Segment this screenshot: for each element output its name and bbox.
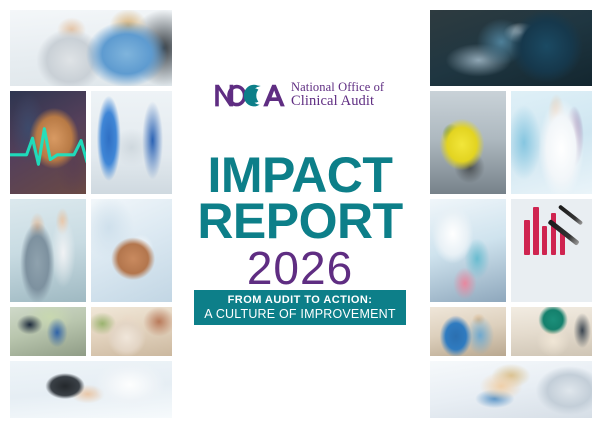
photo-child-in-hospital-bed xyxy=(430,361,592,418)
photo-bandaged-arm xyxy=(91,199,172,302)
cover-center-panel: National Office of Clinical Audit IMPACT… xyxy=(178,0,422,424)
photo-operating-theatre xyxy=(430,10,592,86)
photo-doctor-with-tablet xyxy=(10,361,172,418)
headline-year: 2026 xyxy=(189,245,411,292)
photo-ambulance xyxy=(430,91,506,194)
photo-elderly-woman-walking-stick xyxy=(91,307,172,356)
photo-imaging-equipment xyxy=(10,307,86,356)
photo-doctor-arms-folded xyxy=(511,91,592,194)
logo-text-line2: Clinical Audit xyxy=(291,94,384,109)
noca-logo: National Office of Clinical Audit xyxy=(214,80,384,110)
chart-bar xyxy=(533,207,539,254)
photo-physiotherapy-session xyxy=(10,199,86,302)
tagline-banner: FROM AUDIT TO ACTION: A CULTURE OF IMPRO… xyxy=(194,290,406,325)
photo-nurse-with-elderly-man xyxy=(10,10,172,86)
ecg-trace-icon xyxy=(10,124,86,171)
tagline-line2: A CULTURE OF IMPROVEMENT xyxy=(204,307,395,321)
tagline-line1: FROM AUDIT TO ACTION: xyxy=(228,294,373,306)
headline-word-report: REPORT xyxy=(189,198,411,244)
photo-nurse-walking-with-patient xyxy=(430,307,506,356)
chart-bar xyxy=(524,220,530,255)
collage-row xyxy=(10,307,172,418)
collage-row xyxy=(430,199,592,302)
collage-row xyxy=(430,91,592,194)
pie-chart-shape xyxy=(519,253,551,292)
headline-word-impact: IMPACT xyxy=(189,152,411,198)
collage-row xyxy=(10,10,172,86)
cover-headline: IMPACT REPORT 2026 xyxy=(189,152,411,292)
report-cover: National Office of Clinical Audit IMPACT… xyxy=(0,0,600,424)
collage-row xyxy=(430,10,592,86)
collage-row xyxy=(430,307,592,418)
left-photo-collage xyxy=(10,10,172,413)
collage-row xyxy=(10,91,172,194)
photo-charts-and-pen xyxy=(511,199,592,302)
chart-bar xyxy=(542,226,548,255)
photo-ecg-heartbeat-hands xyxy=(10,91,86,194)
photo-wheelchair-patient xyxy=(511,307,592,356)
right-photo-collage xyxy=(430,10,592,413)
photo-neonatal-incubator xyxy=(430,199,506,302)
noca-monogram-icon xyxy=(214,80,286,110)
photo-medics-with-trolley xyxy=(91,91,172,194)
collage-row xyxy=(10,199,172,302)
